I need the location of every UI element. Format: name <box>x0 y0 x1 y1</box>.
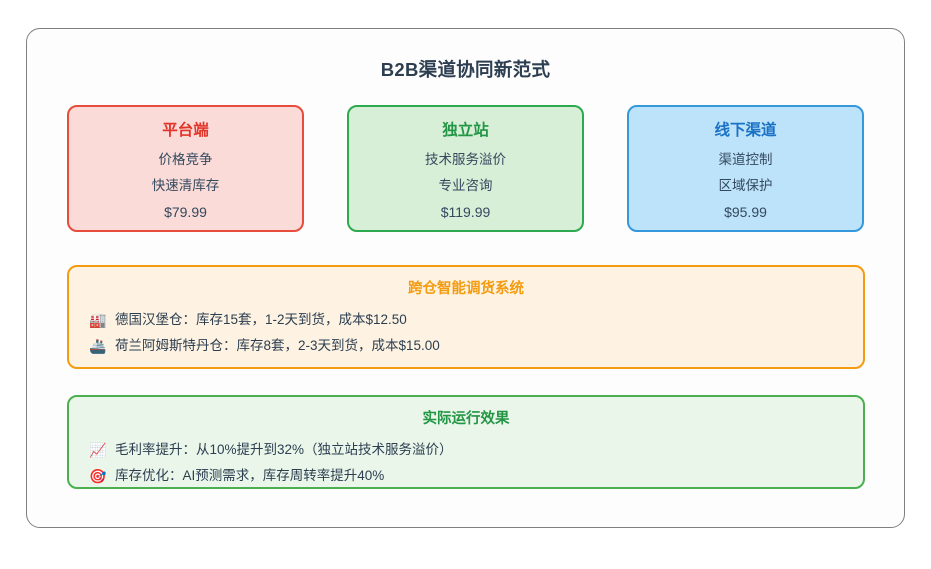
warehouse-row-hamburg: 🏭 德国汉堡仓：库存15套，1-2天到货，成本$12.50 <box>89 308 845 332</box>
channel-feature-1: 渠道控制 <box>629 147 862 173</box>
target-icon: 🎯 <box>89 464 109 488</box>
results-row-margin: 📈 毛利率提升：从10%提升到32%（独立站技术服务溢价） <box>89 438 845 462</box>
warehouse-row-amsterdam: 🚢 荷兰阿姆斯特丹仓：库存8套，2-3天到货，成本$15.00 <box>89 334 845 358</box>
results-row-inventory: 🎯 库存优化：AI预测需求，库存周转率提升40% <box>89 464 845 488</box>
channel-card-independent-site[interactable]: 独立站 技术服务溢价 专业咨询 $119.99 <box>347 105 584 232</box>
channel-title: 独立站 <box>349 120 582 142</box>
channel-card-offline[interactable]: 线下渠道 渠道控制 区域保护 $95.99 <box>627 105 864 232</box>
channel-price: $79.99 <box>69 199 302 225</box>
page-canvas: B2B渠道协同新范式 平台端 价格竞争 快速清库存 $79.99 独立站 技术服… <box>0 0 931 569</box>
channel-card-row: 平台端 价格竞争 快速清库存 $79.99 独立站 技术服务溢价 专业咨询 $1… <box>67 105 864 232</box>
channel-feature-1: 价格竞争 <box>69 147 302 173</box>
channel-title: 平台端 <box>69 120 302 142</box>
warehouse-panel-title: 跨仓智能调货系统 <box>87 279 845 299</box>
results-panel-title: 实际运行效果 <box>87 409 845 429</box>
results-row-text: 库存优化：AI预测需求，库存周转率提升40% <box>115 464 384 488</box>
warehouse-row-text: 荷兰阿姆斯特丹仓：库存8套，2-3天到货，成本$15.00 <box>115 334 440 358</box>
ship-icon: 🚢 <box>89 334 109 358</box>
chart-increasing-icon: 📈 <box>89 438 109 462</box>
channel-feature-1: 技术服务溢价 <box>349 147 582 173</box>
channel-feature-2: 区域保护 <box>629 173 862 199</box>
page-title: B2B渠道协同新范式 <box>67 57 864 83</box>
results-row-text: 毛利率提升：从10%提升到32%（独立站技术服务溢价） <box>115 438 453 462</box>
channel-price: $119.99 <box>349 199 582 225</box>
results-panel: 实际运行效果 📈 毛利率提升：从10%提升到32%（独立站技术服务溢价） 🎯 库… <box>67 395 865 489</box>
warehouse-panel: 跨仓智能调货系统 🏭 德国汉堡仓：库存15套，1-2天到货，成本$12.50 🚢… <box>67 265 865 369</box>
warehouse-row-text: 德国汉堡仓：库存15套，1-2天到货，成本$12.50 <box>115 308 407 332</box>
channel-title: 线下渠道 <box>629 120 862 142</box>
infographic-container: B2B渠道协同新范式 平台端 价格竞争 快速清库存 $79.99 独立站 技术服… <box>26 28 905 528</box>
channel-feature-2: 快速清库存 <box>69 173 302 199</box>
factory-icon: 🏭 <box>89 308 109 332</box>
channel-price: $95.99 <box>629 199 862 225</box>
channel-feature-2: 专业咨询 <box>349 173 582 199</box>
channel-card-platform[interactable]: 平台端 价格竞争 快速清库存 $79.99 <box>67 105 304 232</box>
